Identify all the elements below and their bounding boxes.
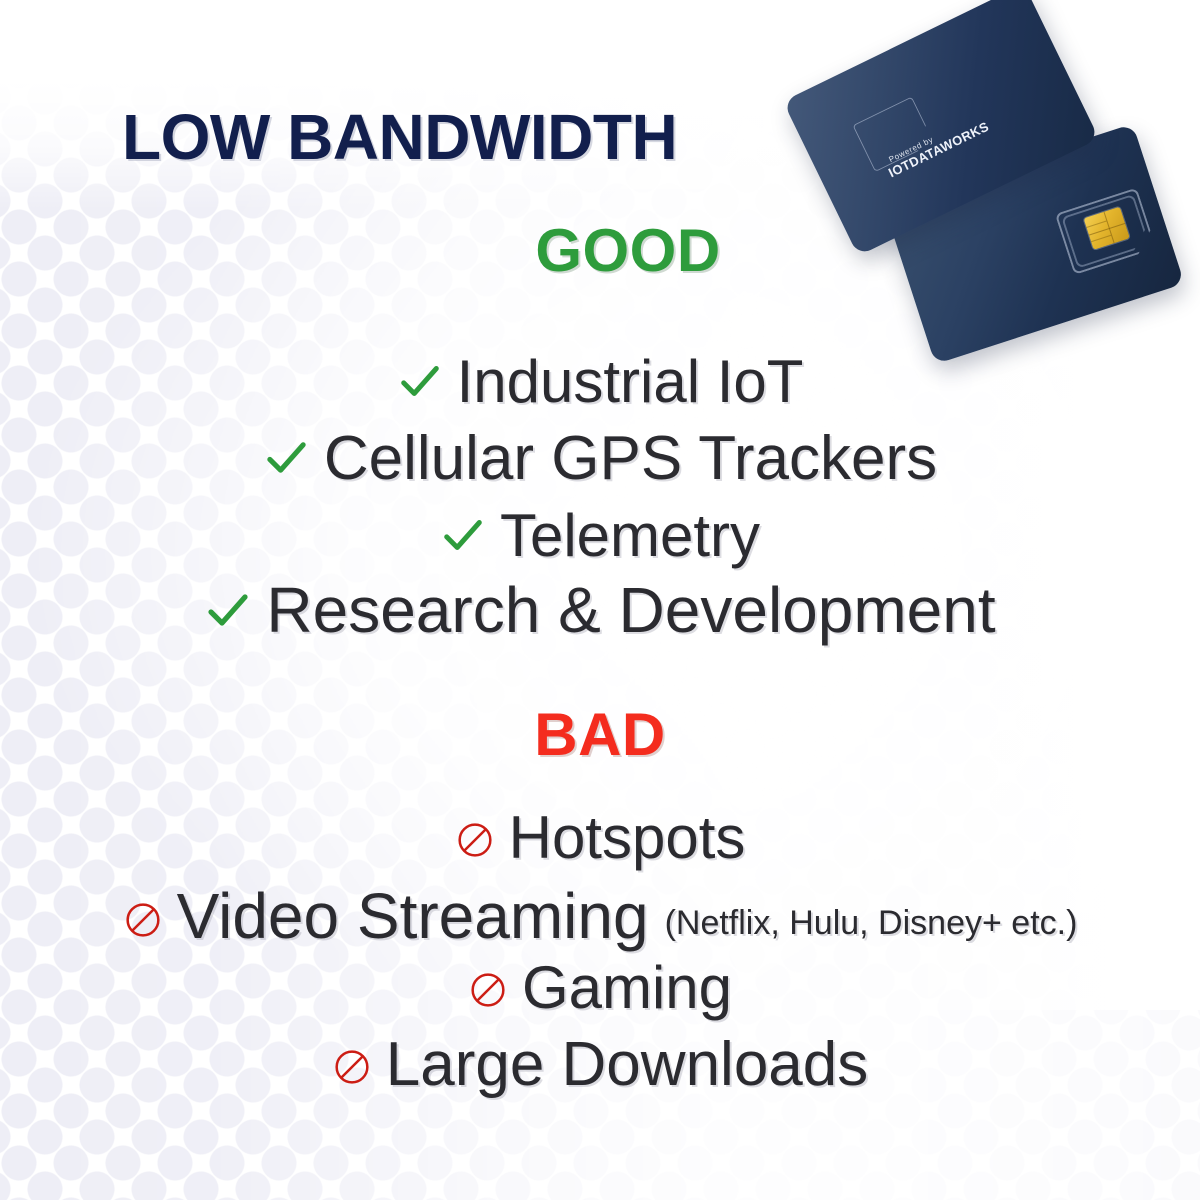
list-item-good-3-label: Telemetry	[500, 506, 760, 566]
list-item-good-1-label: Industrial IoT	[457, 352, 804, 412]
list-item-bad-3: Gaming	[0, 958, 1200, 1018]
page-title: LOW BANDWIDTH	[122, 100, 677, 174]
list-item-good-4: Research & Development	[0, 578, 1200, 642]
list-item-good-3: Telemetry	[0, 506, 1200, 566]
check-icon	[397, 358, 443, 404]
list-item-good-4-label: Research & Development	[266, 578, 995, 642]
prohibition-icon	[468, 970, 508, 1010]
list-item-good-2-label: Cellular GPS Trackers	[324, 428, 937, 490]
prohibition-icon	[332, 1047, 372, 1087]
list-item-bad-1: Hotspots	[0, 808, 1200, 868]
check-icon	[204, 586, 252, 634]
list-item-good-2: Cellular GPS Trackers	[0, 428, 1200, 490]
prohibition-icon	[123, 900, 163, 940]
list-item-bad-2: Video Streaming (Netflix, Hulu, Disney+ …	[0, 884, 1200, 948]
list-item-bad-1-label: Hotspots	[509, 808, 746, 868]
list-item-bad-2-note: (Netflix, Hulu, Disney+ etc.)	[665, 904, 1078, 943]
list-item-bad-4: Large Downloads	[0, 1034, 1200, 1096]
check-icon	[440, 512, 486, 558]
infographic-canvas: Powered by IOTDATAWORKS LOW BANDWIDTH GO…	[0, 0, 1200, 1200]
sim-card-photo: Powered by IOTDATAWORKS	[795, 18, 1195, 348]
section-heading-good: GOOD	[28, 216, 1200, 285]
list-item-bad-3-label: Gaming	[522, 958, 732, 1018]
section-heading-bad: BAD	[0, 700, 1200, 769]
list-item-bad-4-label: Large Downloads	[386, 1034, 869, 1096]
list-item-good-1: Industrial IoT	[0, 352, 1200, 412]
prohibition-icon	[455, 820, 495, 860]
list-item-bad-2-label: Video Streaming	[177, 884, 649, 948]
check-icon	[263, 434, 310, 481]
